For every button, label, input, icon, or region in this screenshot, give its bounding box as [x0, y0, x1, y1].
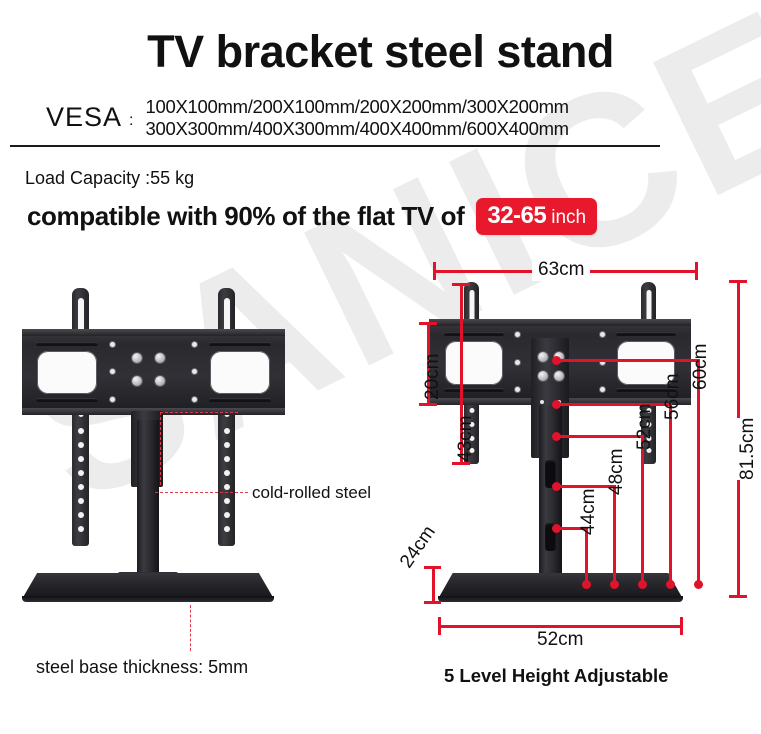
callout-line-steel-horizontal [155, 492, 248, 493]
vesa-bolt [132, 376, 142, 386]
dim-cap-bottom [452, 462, 470, 465]
dim-cap-right [680, 617, 683, 635]
dim-cap-top [424, 566, 441, 569]
level-endpoint-56 [666, 580, 675, 589]
dim-label-crossbar-height: 20cm [422, 354, 444, 400]
dim-cap-bottom [729, 595, 747, 598]
dim-label-rail-height: 43cm [455, 416, 477, 462]
bracket-crossbar [22, 329, 285, 415]
crossbar-screw [110, 369, 115, 374]
vesa-bolt [155, 353, 165, 363]
dim-label-level-56: 56cm [662, 374, 684, 420]
crossbar-slot [209, 398, 271, 402]
crossbar-slot [36, 398, 98, 402]
vesa-bolt [538, 371, 548, 381]
callout-cold-rolled-steel: cold-rolled steel [252, 483, 371, 503]
rail-hole [78, 526, 84, 532]
crossbar-slot [36, 342, 98, 346]
rail-hole [78, 442, 84, 448]
dim-cap-bottom [424, 601, 441, 604]
crossbar-screw [515, 360, 520, 365]
right-product-illustration: 63cm 20cm 43cm 81.5cm 60cm 56cm [400, 0, 761, 734]
crossbar-slot [444, 388, 504, 392]
caption-base-thickness: steel base thickness: 5mm [36, 657, 248, 678]
dim-cap-bottom [419, 403, 437, 406]
dim-label-level-44: 44cm [578, 489, 600, 535]
crossbar-screw [600, 387, 605, 392]
dim-cap-top [419, 322, 437, 325]
crossbar-top-lip [429, 319, 691, 326]
rail-hole [78, 428, 84, 434]
dim-label-base-width: 52cm [537, 629, 583, 651]
level-line-56-vertical [669, 403, 672, 584]
rail-hole [224, 470, 230, 476]
rail-hole [224, 428, 230, 434]
rail-hole [224, 512, 230, 518]
crossbar-top-lip [22, 329, 285, 336]
callout-line-base-thickness [190, 605, 191, 651]
dim-cap-top [452, 283, 470, 286]
crossbar-screw [515, 332, 520, 337]
crossbar-screw [110, 397, 115, 402]
support-column [137, 420, 159, 580]
level-endpoint-44 [582, 580, 591, 589]
vesa-bolt [155, 376, 165, 386]
callout-line-steel-top [160, 412, 238, 413]
level-line-48-vertical [613, 485, 616, 584]
dim-cap-left [433, 262, 436, 280]
rail-hole [224, 442, 230, 448]
rail-hole [224, 484, 230, 490]
level-line-44-vertical [585, 527, 588, 584]
crossbar-screw [192, 397, 197, 402]
crossbar-slot [209, 342, 271, 346]
caption-height-adjustable: 5 Level Height Adjustable [444, 665, 668, 687]
rail-hole [78, 484, 84, 490]
level-endpoint-52 [638, 580, 647, 589]
dim-label-width-total: 63cm [532, 259, 590, 281]
level-line-52-horizontal [556, 435, 643, 438]
level-line-60-horizontal [556, 359, 699, 362]
crossbar-cutout-left [445, 341, 503, 385]
vesa-bolt [538, 352, 548, 362]
crossbar-cutout-left [37, 351, 97, 394]
dim-label-level-52: 52cm [634, 404, 656, 450]
rail-hole [224, 456, 230, 462]
column-hole [540, 400, 544, 404]
callout-line-steel-vertical [160, 412, 161, 485]
rail-hole [469, 408, 474, 413]
base-edge [438, 596, 683, 602]
rail-hole [78, 456, 84, 462]
dim-line-base-height [432, 566, 435, 604]
crossbar-screw [600, 332, 605, 337]
crossbar-screw [192, 369, 197, 374]
crossbar-slot [444, 332, 504, 336]
dim-cap-right [695, 262, 698, 280]
left-product-illustration: cold-rolled steel steel base thickness: … [0, 0, 400, 734]
dim-line-base-width [438, 625, 682, 628]
level-endpoint-60 [694, 580, 703, 589]
dim-cap-left [438, 617, 441, 635]
vesa-bolt [554, 371, 564, 381]
level-line-52-vertical [641, 435, 644, 584]
rail-hole [78, 512, 84, 518]
bracket-rail-right [218, 288, 235, 546]
crossbar-screw [192, 342, 197, 347]
dim-label-level-60: 60cm [690, 344, 712, 390]
level-endpoint-48 [610, 580, 619, 589]
crossbar-screw [110, 342, 115, 347]
base-edge [22, 596, 274, 602]
infographic-page: SANICE TV bracket steel stand VESA : 100… [0, 0, 761, 734]
dim-label-height-total: 81.5cm [733, 418, 761, 480]
bracket-rail-left [72, 288, 89, 546]
crossbar-cutout-right [210, 351, 270, 394]
dim-cap-top [729, 280, 747, 283]
rail-hole [224, 498, 230, 504]
support-column [539, 405, 562, 580]
dim-label-level-48: 48cm [606, 449, 628, 495]
level-line-60-vertical [697, 359, 700, 584]
rail-hole [78, 498, 84, 504]
crossbar-screw [515, 387, 520, 392]
rail-hole [78, 470, 84, 476]
rail-hole [224, 526, 230, 532]
vesa-bolt [132, 353, 142, 363]
crossbar-slot [616, 332, 676, 336]
